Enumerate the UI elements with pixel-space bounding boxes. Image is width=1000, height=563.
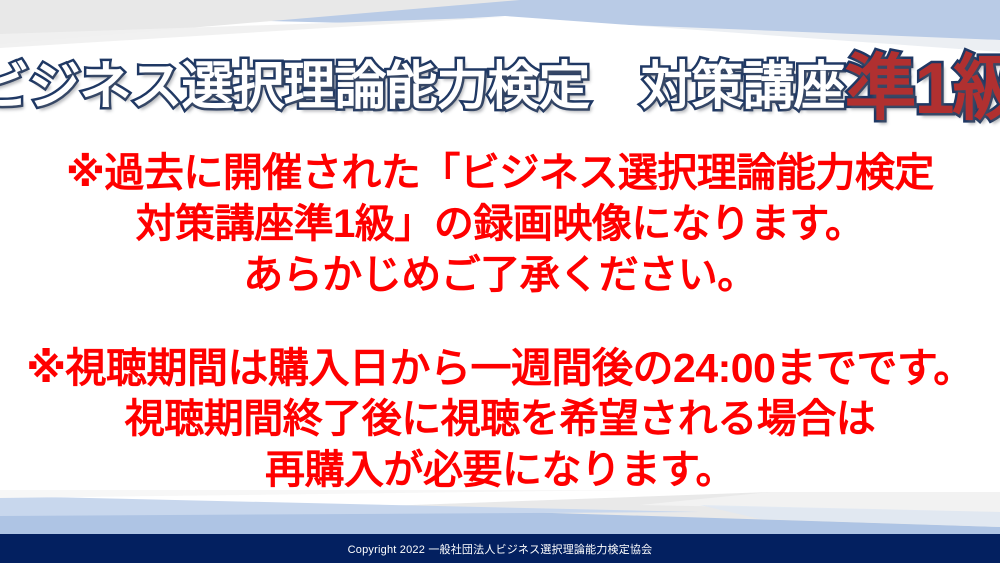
notice-line: 視聴期間終了後に視聴を希望される場合は — [0, 394, 1000, 445]
notice-line: 対策講座準1級」の録画映像になります。 — [0, 199, 1000, 250]
notice-line: あらかじめご了承ください。 — [0, 250, 1000, 301]
top-blue-band — [0, 0, 1000, 40]
notice-line: ※視聴期間は購入日から一週間後の24:00までです。 — [0, 342, 1000, 394]
bottom-pale-wedge — [700, 505, 1000, 527]
body-copy: ※過去に開催された「ビジネス選択理論能力検定 対策講座準1級」の録画映像になりま… — [0, 148, 1000, 496]
notice-paragraph-recording: ※過去に開催された「ビジネス選択理論能力検定 対策講座準1級」の録画映像になりま… — [0, 148, 1000, 302]
title-grade-text: 準1級 — [844, 53, 1000, 125]
bottom-light-blue-band — [0, 496, 700, 516]
slide-canvas: ビジネス選択理論能力検定 対策講座準1級 ※過去に開催された「ビジネス選択理論能… — [0, 0, 1000, 563]
notice-paragraph-viewing-period: ※視聴期間は購入日から一週間後の24:00までです。 視聴期間終了後に視聴を希望… — [0, 342, 1000, 497]
top-gray-wedge-left — [0, 0, 520, 44]
notice-line: 再購入が必要になります。 — [0, 445, 1000, 496]
copyright-text: Copyright 2022 一般社団法人ビジネス選択理論能力検定協会 — [348, 541, 653, 557]
page-title: ビジネス選択理論能力検定 対策講座準1級 — [0, 44, 1000, 130]
bottom-blue-band — [0, 496, 1000, 534]
title-main-text: ビジネス選択理論能力検定 対策講座 — [0, 61, 844, 113]
notice-line: ※過去に開催された「ビジネス選択理論能力検定 — [0, 148, 1000, 199]
footer-bar: Copyright 2022 一般社団法人ビジネス選択理論能力検定協会 — [0, 534, 1000, 563]
bottom-gray-wedge — [0, 492, 1000, 534]
